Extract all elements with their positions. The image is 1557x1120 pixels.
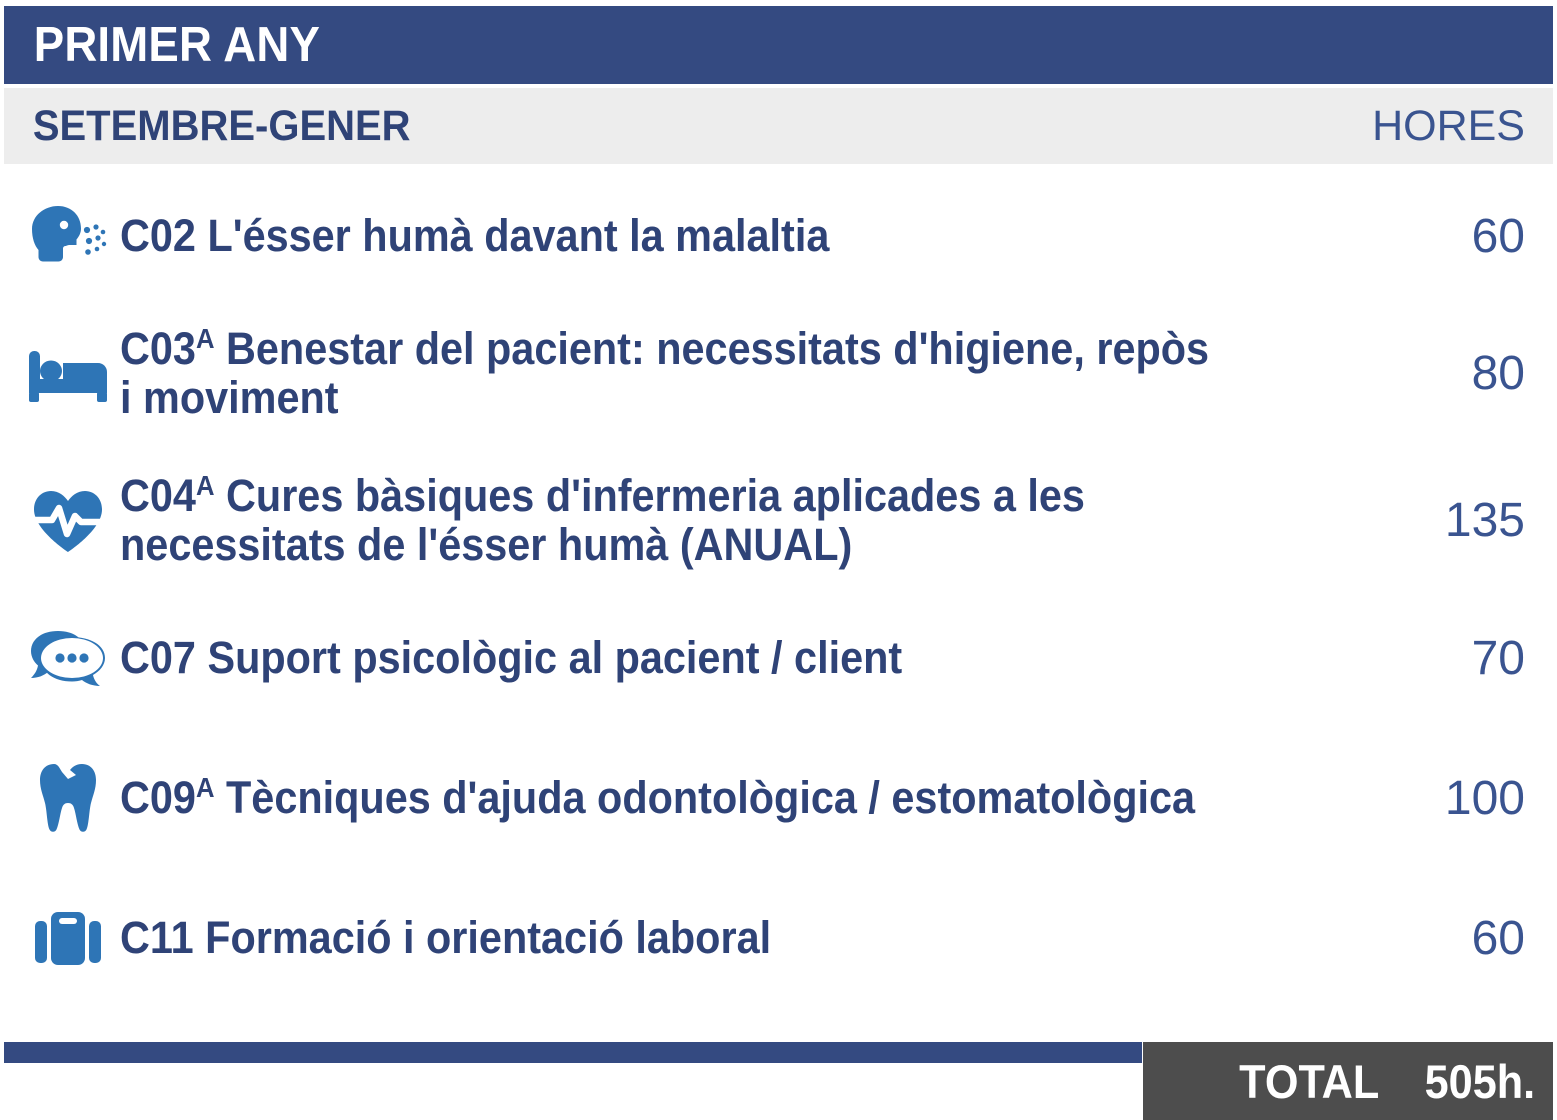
module-label: C11 Formació i orientació laboral (120, 914, 1238, 962)
total-block: TOTAL 505h. (1143, 1042, 1553, 1120)
coughing-head-icon (16, 205, 120, 267)
course-hours-table: PRIMER ANY SETEMBRE-GENER HORES (0, 0, 1557, 1120)
table-row[interactable]: C03A Benestar del pacient: necessitats d… (4, 300, 1553, 447)
module-label: C07 Suport psicològic al pacient / clien… (120, 634, 1238, 682)
module-label: C02 L'ésser humà davant la malaltia (120, 212, 1238, 260)
hours-column-header: HORES (1372, 102, 1553, 151)
table-row[interactable]: C02 L'ésser humà davant la malaltia 60 (4, 172, 1553, 300)
bed-patient-icon (16, 345, 120, 403)
module-hours: 135 (1335, 493, 1525, 548)
total-label: TOTAL (1239, 1054, 1379, 1109)
table-row[interactable]: C07 Suport psicològic al pacient / clien… (4, 594, 1553, 722)
table-header-row: SETEMBRE-GENER HORES (4, 88, 1553, 164)
table-row[interactable]: C09A Tècniques d'ajuda odontològica / es… (4, 722, 1553, 874)
module-label: C03A Benestar del pacient: necessitats d… (120, 325, 1238, 421)
heart-pulse-icon (16, 488, 120, 554)
module-hours: 70 (1335, 631, 1525, 686)
module-hours: 80 (1335, 346, 1525, 401)
module-label: C04A Cures bàsiques d'infermeria aplicad… (120, 472, 1238, 568)
module-superscript: A (196, 772, 215, 803)
year-title-bar: PRIMER ANY (4, 6, 1553, 84)
module-superscript: A (196, 323, 215, 354)
tooth-icon (16, 762, 120, 834)
page-title: PRIMER ANY (4, 17, 320, 73)
footer-blue-bar (4, 1042, 1142, 1063)
table-row[interactable]: C11 Formació i orientació laboral 60 (4, 874, 1553, 1002)
module-label: C09A Tècniques d'ajuda odontològica / es… (120, 774, 1238, 822)
module-hours: 100 (1335, 771, 1525, 826)
speech-bubbles-icon (16, 627, 120, 689)
briefcase-icon (16, 909, 120, 967)
table-row[interactable]: C04A Cures bàsiques d'infermeria aplicad… (4, 447, 1553, 594)
module-list: C02 L'ésser humà davant la malaltia 60 C… (4, 172, 1553, 1034)
module-hours: 60 (1335, 911, 1525, 966)
period-label: SETEMBRE-GENER (4, 102, 411, 151)
module-superscript: A (196, 470, 215, 501)
module-hours: 60 (1335, 209, 1525, 264)
total-value: 505h. (1424, 1054, 1535, 1109)
